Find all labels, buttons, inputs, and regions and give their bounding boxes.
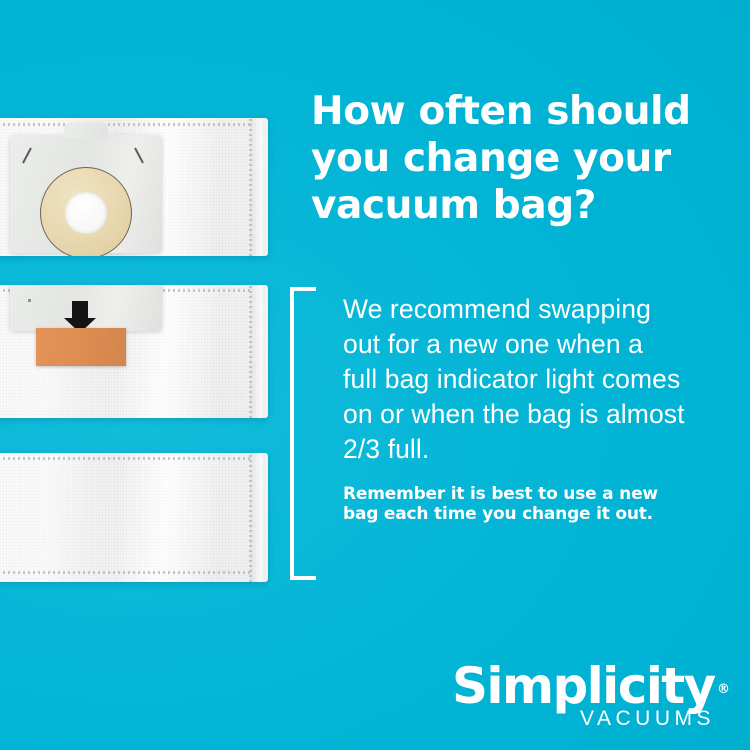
collar-tab	[64, 122, 108, 138]
headline-line-2: you change your	[311, 135, 736, 182]
body-line-2: out for a new one when a	[343, 327, 733, 362]
bag-stitch-top	[0, 123, 250, 126]
body-line-3: full bag indicator light comes	[343, 362, 733, 397]
reminder-line-1: Remember it is best to use a new	[343, 484, 713, 504]
page-title: How often should you change your vacuum …	[311, 88, 736, 229]
registered-trademark-icon: ®	[717, 664, 730, 716]
body-line-4: on or when the bag is almost	[343, 397, 733, 432]
infographic-canvas: How often should you change your vacuum …	[0, 0, 750, 750]
reminder-copy: Remember it is best to use a new bag eac…	[343, 484, 713, 524]
body-line-5: 2/3 full.	[343, 432, 733, 467]
body-copy: We recommend swapping out for a new one …	[343, 292, 733, 467]
bracket-decoration	[290, 287, 316, 580]
collar-nick-right	[134, 148, 144, 164]
bag-stitch-right	[249, 285, 252, 418]
headline-line-1: How often should	[311, 88, 736, 135]
bag-stitch-top	[0, 457, 250, 460]
vacuum-bag-photo-bottom	[0, 453, 268, 582]
vacuum-bag-photo-middle	[0, 285, 268, 418]
logo-wordmark: Simplicity	[452, 660, 715, 712]
bag-stitch-right	[249, 118, 252, 256]
vacuum-bag-photo-top	[0, 118, 268, 256]
bag-stitch-bottom	[0, 571, 250, 574]
collar-speck	[28, 299, 31, 302]
body-line-1: We recommend swapping	[343, 292, 733, 327]
fabric-sheen	[0, 453, 268, 582]
collar-hole	[65, 192, 106, 233]
bag-stitch-right	[249, 453, 252, 582]
reminder-line-2: bag each time you change it out.	[343, 504, 713, 524]
collar-seal-ring	[40, 167, 132, 256]
brand-logo: Simplicity® VACUUMS	[452, 660, 717, 730]
orange-seal-tab	[36, 328, 126, 366]
logo-tagline: VACUUMS	[580, 707, 715, 731]
bag-collar-top	[10, 135, 162, 253]
collar-nick-left	[22, 148, 32, 164]
headline-line-3: vacuum bag?	[311, 182, 736, 229]
